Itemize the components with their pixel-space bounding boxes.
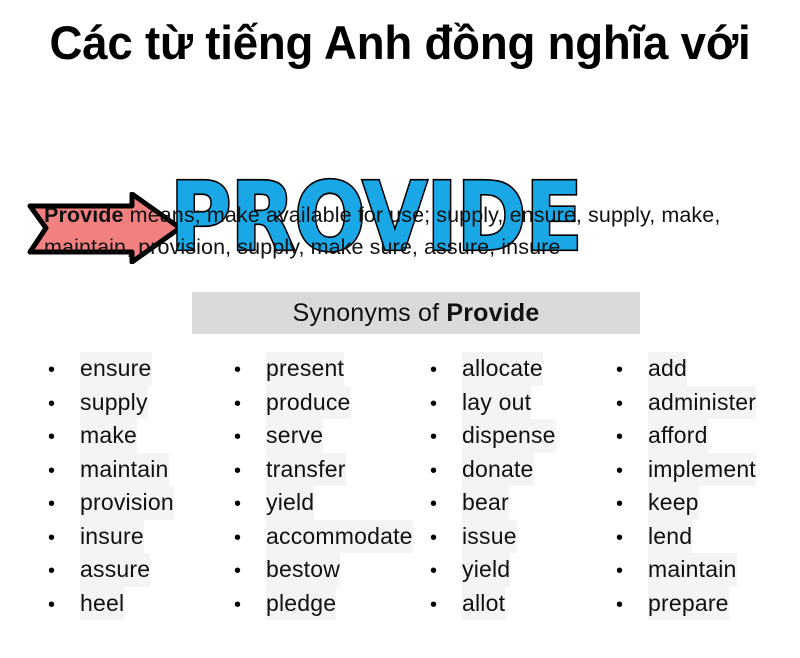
synonyms-section-word: Provide bbox=[446, 299, 539, 327]
synonym-label: afford bbox=[648, 419, 708, 453]
synonym-label: supply bbox=[80, 386, 148, 420]
list-item: •issue bbox=[418, 520, 604, 554]
bullet-icon: • bbox=[222, 589, 266, 623]
list-item: •insure bbox=[36, 520, 222, 554]
list-item: •prepare bbox=[604, 587, 790, 621]
synonym-label: assure bbox=[80, 553, 150, 587]
synonym-label: heel bbox=[80, 587, 124, 621]
bullet-icon: • bbox=[222, 555, 266, 589]
synonym-label: dispense bbox=[462, 419, 556, 453]
bullet-icon: • bbox=[604, 421, 648, 455]
bullet-icon: • bbox=[604, 522, 648, 556]
poster-root: Các từ tiếng Anh đồng nghĩa với PROVIDE … bbox=[0, 0, 800, 658]
bullet-icon: • bbox=[418, 354, 462, 388]
synonym-label: ensure bbox=[80, 352, 152, 386]
list-item: •add bbox=[604, 352, 790, 386]
bullet-icon: • bbox=[604, 589, 648, 623]
list-item: •allot bbox=[418, 587, 604, 621]
synonyms-column-1: •ensure •supply •make •maintain •provisi… bbox=[36, 352, 222, 620]
bullet-icon: • bbox=[418, 589, 462, 623]
page-title: Các từ tiếng Anh đồng nghĩa với bbox=[12, 18, 788, 67]
synonym-label: make bbox=[80, 419, 137, 453]
list-item: •bestow bbox=[222, 553, 408, 587]
list-item: •donate bbox=[418, 453, 604, 487]
list-item: •administer bbox=[604, 386, 790, 420]
bullet-icon: • bbox=[36, 388, 80, 422]
bullet-icon: • bbox=[604, 354, 648, 388]
synonym-label: yield bbox=[462, 553, 510, 587]
list-item: •yield bbox=[418, 553, 604, 587]
synonym-label: allot bbox=[462, 587, 505, 621]
synonyms-section-header-text: Synonyms of Provide bbox=[293, 299, 540, 328]
bullet-icon: • bbox=[604, 488, 648, 522]
bullet-icon: • bbox=[36, 488, 80, 522]
bullet-icon: • bbox=[222, 455, 266, 489]
synonyms-columns: •ensure •supply •make •maintain •provisi… bbox=[0, 352, 800, 620]
bullet-icon: • bbox=[604, 455, 648, 489]
synonym-label: pledge bbox=[266, 587, 336, 621]
list-item: •produce bbox=[222, 386, 408, 420]
bullet-icon: • bbox=[36, 354, 80, 388]
synonym-label: yield bbox=[266, 486, 314, 520]
bullet-icon: • bbox=[418, 522, 462, 556]
bullet-icon: • bbox=[418, 421, 462, 455]
definition-paragraph: Provide means; make available for use; s… bbox=[44, 199, 756, 263]
synonym-label: serve bbox=[266, 419, 323, 453]
synonym-label: lay out bbox=[462, 386, 531, 420]
bullet-icon: • bbox=[418, 455, 462, 489]
bullet-icon: • bbox=[36, 589, 80, 623]
synonym-label: administer bbox=[648, 386, 756, 420]
list-item: •lay out bbox=[418, 386, 604, 420]
bullet-icon: • bbox=[222, 354, 266, 388]
synonym-label: bestow bbox=[266, 553, 340, 587]
list-item: •allocate bbox=[418, 352, 604, 386]
synonym-label: insure bbox=[80, 520, 144, 554]
list-item: •heel bbox=[36, 587, 222, 621]
bullet-icon: • bbox=[418, 388, 462, 422]
definition-lead-word: Provide bbox=[44, 203, 124, 227]
synonyms-column-4: •add •administer •afford •implement •kee… bbox=[604, 352, 790, 620]
list-item: •yield bbox=[222, 486, 408, 520]
bullet-icon: • bbox=[604, 555, 648, 589]
bullet-icon: • bbox=[36, 455, 80, 489]
synonym-label: accommodate bbox=[266, 520, 413, 554]
synonym-label: donate bbox=[462, 453, 534, 487]
list-item: •supply bbox=[36, 386, 222, 420]
bullet-icon: • bbox=[36, 522, 80, 556]
synonyms-section-header: Synonyms of Provide bbox=[192, 292, 640, 334]
synonym-label: maintain bbox=[80, 453, 169, 487]
list-item: •lend bbox=[604, 520, 790, 554]
list-item: •pledge bbox=[222, 587, 408, 621]
synonym-label: transfer bbox=[266, 453, 346, 487]
synonym-label: implement bbox=[648, 453, 756, 487]
synonym-label: issue bbox=[462, 520, 517, 554]
list-item: •make bbox=[36, 419, 222, 453]
synonym-label: prepare bbox=[648, 587, 729, 621]
list-item: •present bbox=[222, 352, 408, 386]
synonyms-column-3: •allocate •lay out •dispense •donate •be… bbox=[418, 352, 604, 620]
list-item: •implement bbox=[604, 453, 790, 487]
synonyms-column-2: •present •produce •serve •transfer •yiel… bbox=[222, 352, 408, 620]
bullet-icon: • bbox=[222, 421, 266, 455]
list-item: •dispense bbox=[418, 419, 604, 453]
synonym-label: produce bbox=[266, 386, 351, 420]
synonym-label: bear bbox=[462, 486, 509, 520]
bullet-icon: • bbox=[222, 522, 266, 556]
list-item: •bear bbox=[418, 486, 604, 520]
list-item: •maintain bbox=[604, 553, 790, 587]
list-item: •afford bbox=[604, 419, 790, 453]
list-item: •accommodate bbox=[222, 520, 408, 554]
definition-body: means; make available for use; supply, e… bbox=[44, 203, 720, 259]
list-item: •serve bbox=[222, 419, 408, 453]
list-item: •keep bbox=[604, 486, 790, 520]
synonym-label: lend bbox=[648, 520, 692, 554]
list-item: •transfer bbox=[222, 453, 408, 487]
bullet-icon: • bbox=[418, 488, 462, 522]
bullet-icon: • bbox=[222, 388, 266, 422]
bullet-icon: • bbox=[36, 555, 80, 589]
list-item: •ensure bbox=[36, 352, 222, 386]
synonym-label: present bbox=[266, 352, 344, 386]
synonym-label: allocate bbox=[462, 352, 543, 386]
list-item: •assure bbox=[36, 553, 222, 587]
synonym-label: maintain bbox=[648, 553, 737, 587]
synonym-label: keep bbox=[648, 486, 699, 520]
bullet-icon: • bbox=[36, 421, 80, 455]
bullet-icon: • bbox=[418, 555, 462, 589]
headword-row: PROVIDE bbox=[0, 88, 800, 183]
list-item: •provision bbox=[36, 486, 222, 520]
bullet-icon: • bbox=[222, 488, 266, 522]
synonym-label: provision bbox=[80, 486, 174, 520]
bullet-icon: • bbox=[604, 388, 648, 422]
list-item: •maintain bbox=[36, 453, 222, 487]
synonym-label: add bbox=[648, 352, 687, 386]
synonyms-section-prefix: Synonyms of bbox=[293, 299, 447, 327]
